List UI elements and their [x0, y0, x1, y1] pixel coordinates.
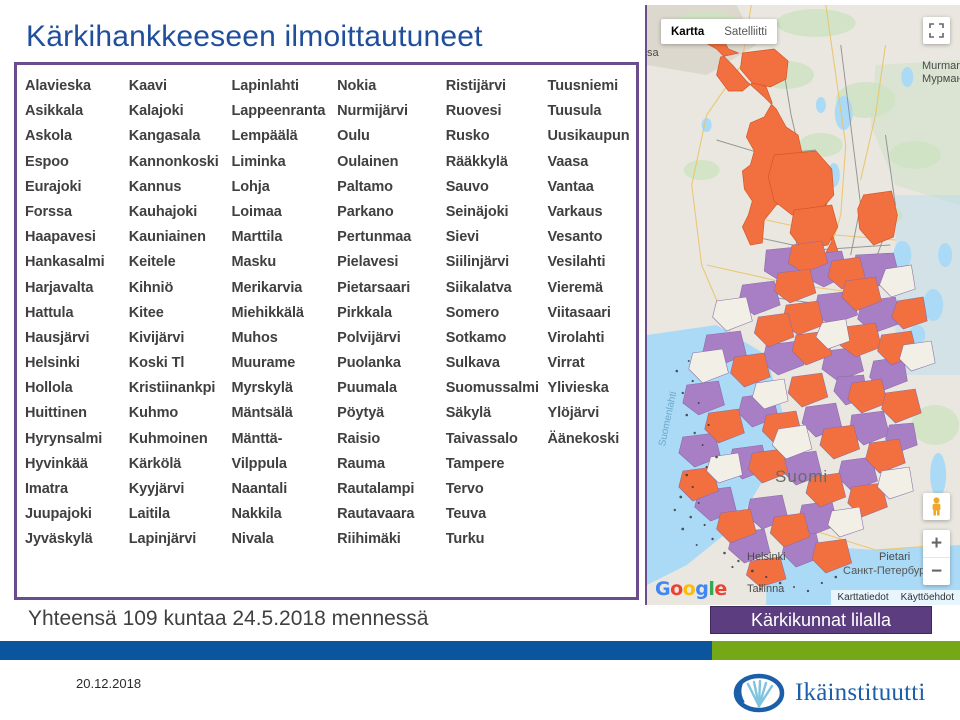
municipality-item: Tervo: [446, 477, 548, 502]
municipality-item: Riihimäki: [337, 527, 446, 552]
municipality-item: Äänekoski: [548, 427, 634, 452]
municipality-item: Sauvo: [446, 175, 548, 200]
municipality-item: Somero: [446, 301, 548, 326]
municipality-item: Ristijärvi: [446, 74, 548, 99]
map-canvas[interactable]: [647, 5, 960, 605]
municipality-item: Hattula: [25, 301, 129, 326]
map-label-murmansk: Murmansk: [922, 60, 960, 72]
municipality-column-1: AlavieskaAsikkalaAskolaEspooEurajokiFors…: [25, 74, 129, 595]
municipality-item: Tuusula: [548, 99, 634, 124]
google-letter-g1: G: [655, 578, 670, 600]
municipality-item: Rautavaara: [337, 502, 446, 527]
municipality-item: Masku: [232, 250, 338, 275]
map-type-control[interactable]: Kartta Satelliitti: [661, 19, 777, 44]
municipality-item: Kihniö: [129, 276, 232, 301]
municipality-item: Sievi: [446, 225, 548, 250]
google-letter-o2: o: [683, 578, 696, 600]
municipality-item: Seinäjoki: [446, 200, 548, 225]
municipality-item: Mänttä-Vilppula: [232, 427, 338, 477]
municipality-item: Nokia: [337, 74, 446, 99]
municipality-item: Parkano: [337, 200, 446, 225]
municipality-item: Kannonkoski: [129, 150, 232, 175]
google-letter-g2: g: [695, 578, 708, 600]
municipality-item: Kuhmo: [129, 401, 232, 426]
municipality-item: Suomussalmi: [446, 376, 548, 401]
google-letter-o1: o: [670, 578, 683, 600]
municipality-item: Paltamo: [337, 175, 446, 200]
pegman-streetview-icon[interactable]: [923, 493, 950, 520]
municipality-item: Turku: [446, 527, 548, 552]
municipality-item: Kaavi: [129, 74, 232, 99]
map-panel[interactable]: Murmansk Мурманск Suomi Helsinki Tallinn…: [645, 5, 960, 605]
municipality-item: Pertunmaa: [337, 225, 446, 250]
terms-link[interactable]: Käyttöehdot: [901, 592, 954, 603]
map-label-murmansk-cyr: Мурманск: [922, 73, 960, 85]
municipality-item: Rautalampi: [337, 477, 446, 502]
map-legend-badge: Kärkikunnat lilalla: [710, 606, 932, 634]
municipality-item: Lohja: [232, 175, 338, 200]
municipality-item: Vaasa: [548, 150, 634, 175]
municipality-item: Pietarsaari: [337, 276, 446, 301]
municipality-item: Askola: [25, 124, 129, 149]
map-graphic: [647, 5, 960, 605]
municipality-item: Hausjärvi: [25, 326, 129, 351]
municipality-item: Taivassalo: [446, 427, 548, 452]
municipality-item: Nivala: [232, 527, 338, 552]
municipality-item: Virrat: [548, 351, 634, 376]
municipality-item: Laitila: [129, 502, 232, 527]
map-label-helsinki: Helsinki: [747, 551, 786, 563]
municipality-item: Juupajoki: [25, 502, 129, 527]
municipality-item: Eurajoki: [25, 175, 129, 200]
map-label-sa: sa: [647, 47, 659, 59]
municipality-item: Lapinjärvi: [129, 527, 232, 552]
municipality-item: Oulu: [337, 124, 446, 149]
logo: Ikäinstituutti: [733, 668, 948, 718]
municipality-item: Keitele: [129, 250, 232, 275]
person-icon: [929, 497, 944, 516]
map-type-kartta[interactable]: Kartta: [661, 19, 714, 44]
municipality-item: Alavieska: [25, 74, 129, 99]
municipality-item: Kristiinankpi: [129, 376, 232, 401]
municipality-item: Vesanto: [548, 225, 634, 250]
municipality-column-5: RistijärviRuovesiRuskoRääkkyläSauvoSeinä…: [446, 74, 548, 595]
municipality-column-3: LapinlahtiLappeenrantaLempääläLiminkaLoh…: [232, 74, 338, 595]
page-title: Kärkihankkeeseen ilmoittautuneet: [26, 20, 626, 54]
municipality-item: Varkaus: [548, 200, 634, 225]
municipality-item: Liminka: [232, 150, 338, 175]
municipality-item: Pirkkala: [337, 301, 446, 326]
municipality-item: Siilinjärvi: [446, 250, 548, 275]
footer-bar-green: [712, 641, 960, 660]
municipality-item: Myrskylä: [232, 376, 338, 401]
municipality-item: Vantaa: [548, 175, 634, 200]
map-label-suomi: Suomi: [775, 467, 828, 487]
google-logo: Google: [655, 578, 727, 600]
municipality-item: Imatra: [25, 477, 129, 502]
municipality-item: Kitee: [129, 301, 232, 326]
municipality-item: Espoo: [25, 150, 129, 175]
municipality-column-2: KaaviKalajokiKangasalaKannonkoskiKannusK…: [129, 74, 232, 595]
municipality-item: Kauniainen: [129, 225, 232, 250]
municipality-item: Rusko: [446, 124, 548, 149]
municipality-item: Kuhmoinen: [129, 427, 232, 452]
logo-text: Ikäinstituutti: [795, 679, 926, 707]
google-letter-e: e: [714, 578, 726, 600]
municipality-item: Pielavesi: [337, 250, 446, 275]
municipality-item: Nakkila: [232, 502, 338, 527]
zoom-control[interactable]: + −: [923, 530, 950, 585]
municipality-item: Virolahti: [548, 326, 634, 351]
municipality-item: Sotkamo: [446, 326, 548, 351]
municipality-item: Kivijärvi: [129, 326, 232, 351]
map-attribution: Karttatiedot Käyttöehdot: [831, 590, 960, 605]
municipality-column-6: TuusniemiTuusulaUusikaupunVaasaVantaaVar…: [548, 74, 634, 595]
municipality-item: Koski Tl: [129, 351, 232, 376]
municipality-item: Puolanka: [337, 351, 446, 376]
municipality-item: Oulainen: [337, 150, 446, 175]
municipality-item: Asikkala: [25, 99, 129, 124]
municipality-item: Hankasalmi: [25, 250, 129, 275]
municipality-item: Kannus: [129, 175, 232, 200]
municipality-item: Rauma: [337, 452, 446, 477]
map-label-saint-petersburg: Санкт-Петербург: [843, 565, 929, 577]
municipality-item: Kangasala: [129, 124, 232, 149]
municipality-item: Forssa: [25, 200, 129, 225]
municipality-columns: AlavieskaAsikkalaAskolaEspooEurajokiFors…: [25, 74, 634, 595]
ikainstituutti-logo-icon: [733, 671, 785, 715]
municipality-item: Kauhajoki: [129, 200, 232, 225]
municipality-item: Uusikaupun: [548, 124, 634, 149]
municipality-item: Lapinlahti: [232, 74, 338, 99]
municipality-item: Naantali: [232, 477, 338, 502]
municipality-item: Huittinen: [25, 401, 129, 426]
summary-text: Yhteensä 109 kuntaa 24.5.2018 mennessä: [28, 607, 428, 631]
municipality-item: Ylivieska: [548, 376, 634, 401]
municipality-item: Polvijärvi: [337, 326, 446, 351]
municipality-item: Hyrynsalmi: [25, 427, 129, 452]
municipality-item: Ruovesi: [446, 99, 548, 124]
municipality-item: Muhos: [232, 326, 338, 351]
municipality-item: Haapavesi: [25, 225, 129, 250]
municipality-item: Kyyjärvi: [129, 477, 232, 502]
municipality-item: Tuusniemi: [548, 74, 634, 99]
municipality-item: Tampere: [446, 452, 548, 477]
expand-icon: [929, 23, 944, 38]
map-type-satelliitti[interactable]: Satelliitti: [714, 19, 777, 44]
municipality-item: Muurame: [232, 351, 338, 376]
municipality-item: Kalajoki: [129, 99, 232, 124]
municipality-item: Helsinki: [25, 351, 129, 376]
footer-bar-blue: [0, 641, 712, 660]
municipality-item: Hyvinkää: [25, 452, 129, 477]
municipality-item: Rääkkylä: [446, 150, 548, 175]
municipality-item: Miehikkälä: [232, 301, 338, 326]
municipality-item: Loimaa: [232, 200, 338, 225]
map-label-tallinna: Tallinna: [747, 583, 784, 595]
municipality-item: Ylöjärvi: [548, 401, 634, 426]
municipality-item: Hollola: [25, 376, 129, 401]
municipality-item: Raisio: [337, 427, 446, 452]
map-label-pietari: Pietari: [879, 551, 910, 563]
municipality-column-4: NokiaNurmijärviOuluOulainenPaltamoParkan…: [337, 74, 446, 595]
zoom-in-button[interactable]: +: [923, 530, 950, 557]
municipality-item: Pöytyä: [337, 401, 446, 426]
fullscreen-icon[interactable]: [923, 17, 950, 44]
municipality-item: Mäntsälä: [232, 401, 338, 426]
zoom-out-button[interactable]: −: [923, 558, 950, 585]
municipality-item: Kärkölä: [129, 452, 232, 477]
municipality-item: Sulkava: [446, 351, 548, 376]
municipality-item: Nurmijärvi: [337, 99, 446, 124]
municipality-item: Siikalatva: [446, 276, 548, 301]
municipality-item: Lempäälä: [232, 124, 338, 149]
municipality-item: Vieremä: [548, 276, 634, 301]
footer-date: 20.12.2018: [76, 676, 141, 691]
municipality-item: Merikarvia: [232, 276, 338, 301]
municipality-item: Teuva: [446, 502, 548, 527]
municipality-item: Lappeenranta: [232, 99, 338, 124]
municipality-list-box: AlavieskaAsikkalaAskolaEspooEurajokiFors…: [14, 62, 639, 600]
municipality-item: Marttila: [232, 225, 338, 250]
municipality-item: Säkylä: [446, 401, 548, 426]
municipality-item: Jyväskylä: [25, 527, 129, 552]
municipality-item: Vesilahti: [548, 250, 634, 275]
map-data-link[interactable]: Karttatiedot: [837, 592, 888, 603]
municipality-item: Harjavalta: [25, 276, 129, 301]
municipality-item: Puumala: [337, 376, 446, 401]
municipality-item: Viitasaari: [548, 301, 634, 326]
